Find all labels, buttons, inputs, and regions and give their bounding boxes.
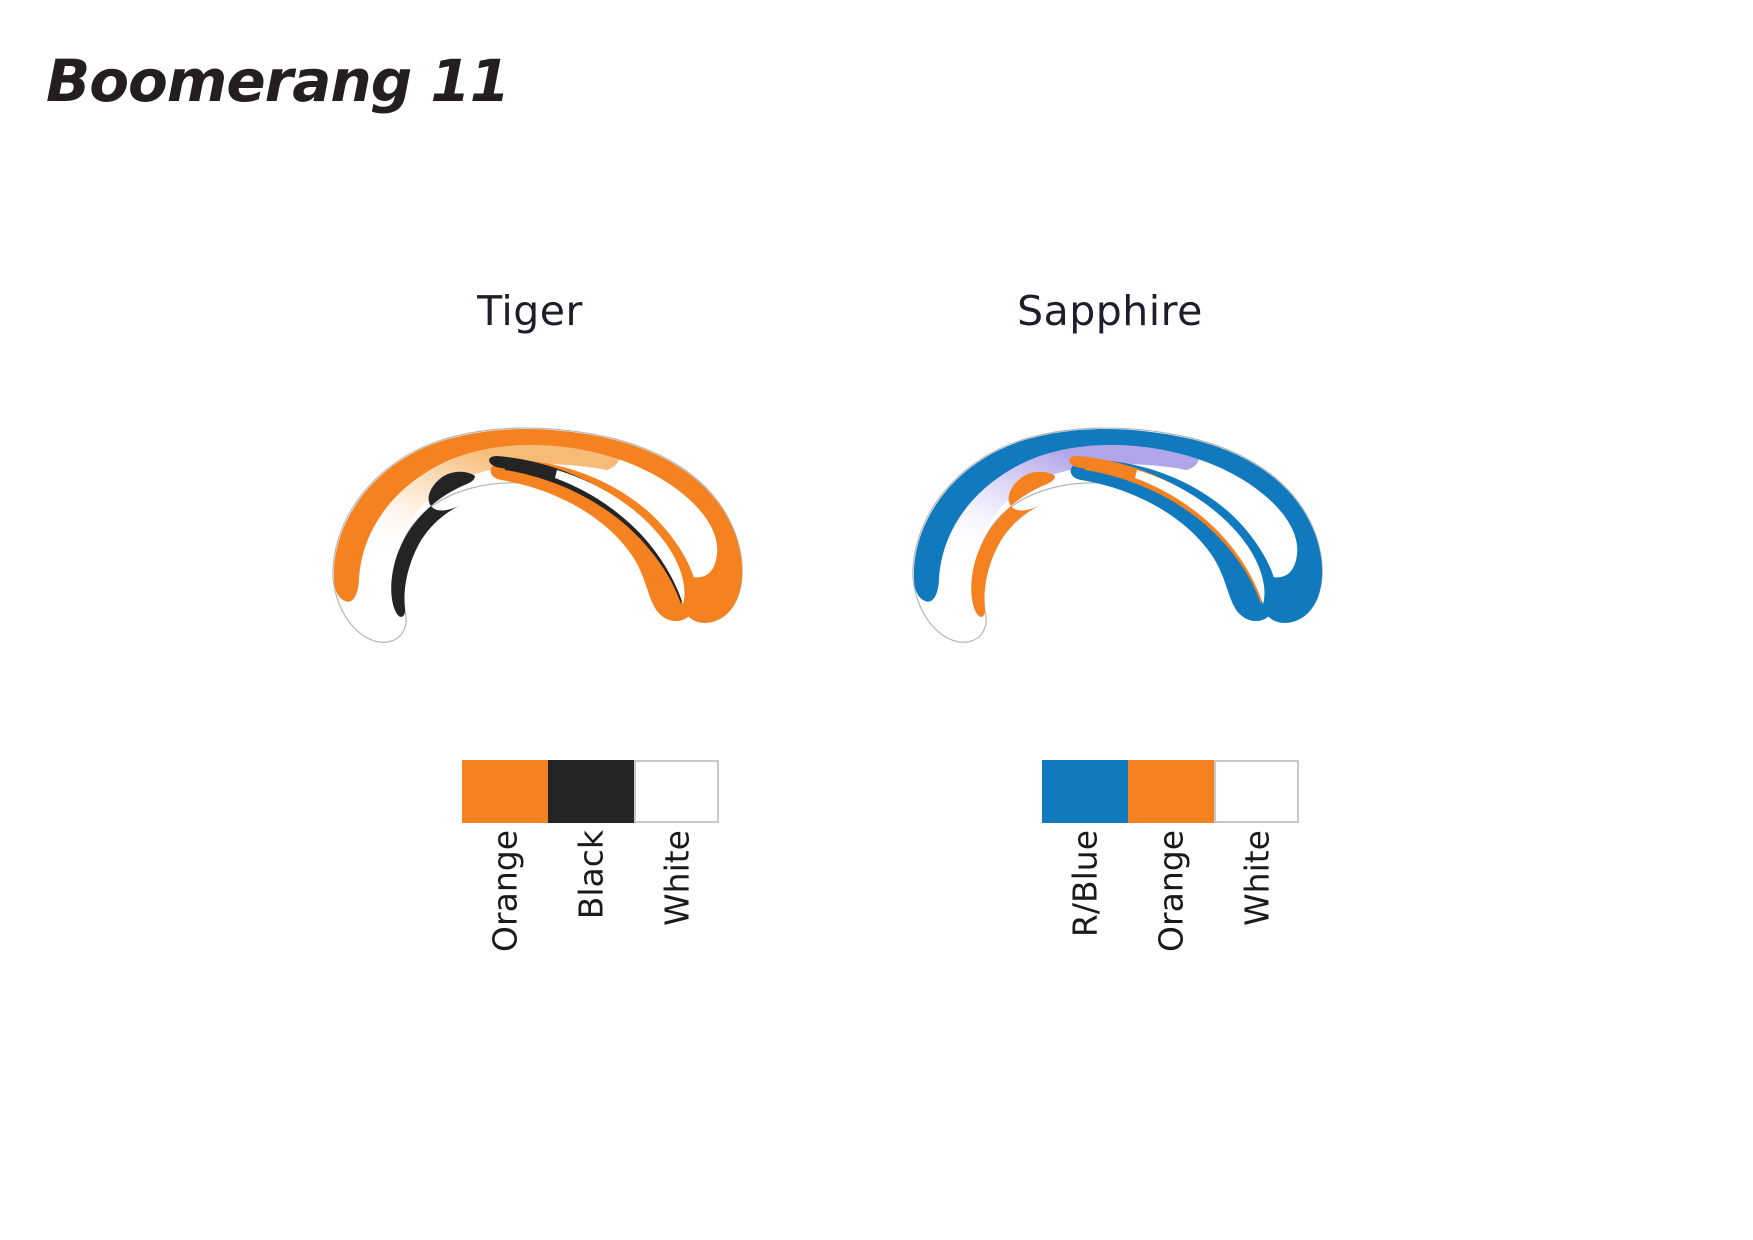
swatch-label-text: White <box>658 830 697 926</box>
color-swatch-rblue[interactable] <box>1042 760 1128 823</box>
color-swatch-orange[interactable] <box>1128 760 1214 823</box>
color-swatch-labels-sapphire: R/Blue Orange White <box>1042 830 1299 1010</box>
swatch-label-orange: Orange <box>462 830 548 1010</box>
color-swatch-orange[interactable] <box>462 760 548 823</box>
color-swatch-black[interactable] <box>548 760 634 823</box>
swatch-label-white: White <box>1214 830 1300 1010</box>
swatch-label-white: White <box>634 830 720 1010</box>
variant-title-tiger: Tiger <box>230 287 830 335</box>
color-swatch-bar-tiger <box>462 760 719 823</box>
swatch-label-text: Orange <box>1152 830 1191 952</box>
swatch-label-text: R/Blue <box>1066 830 1105 937</box>
swatch-label-text: Black <box>572 830 611 919</box>
color-swatch-white[interactable] <box>1214 760 1299 823</box>
color-swatch-bar-sapphire <box>1042 760 1299 823</box>
variant-column-tiger: Tiger <box>230 0 830 1240</box>
color-swatch-white[interactable] <box>634 760 719 823</box>
swatch-label-rblue: R/Blue <box>1042 830 1128 1010</box>
wing-illustration-sapphire <box>905 408 1325 658</box>
variant-title-sapphire: Sapphire <box>810 287 1410 335</box>
swatch-label-text: Orange <box>486 830 525 952</box>
swatch-label-text: White <box>1238 830 1277 926</box>
swatch-label-orange: Orange <box>1128 830 1214 1010</box>
color-swatch-labels-tiger: Orange Black White <box>462 830 719 1010</box>
swatch-label-black: Black <box>548 830 634 1010</box>
variant-column-sapphire: Sapphire R/Blue <box>810 0 1410 1240</box>
wing-illustration-tiger <box>325 408 745 658</box>
